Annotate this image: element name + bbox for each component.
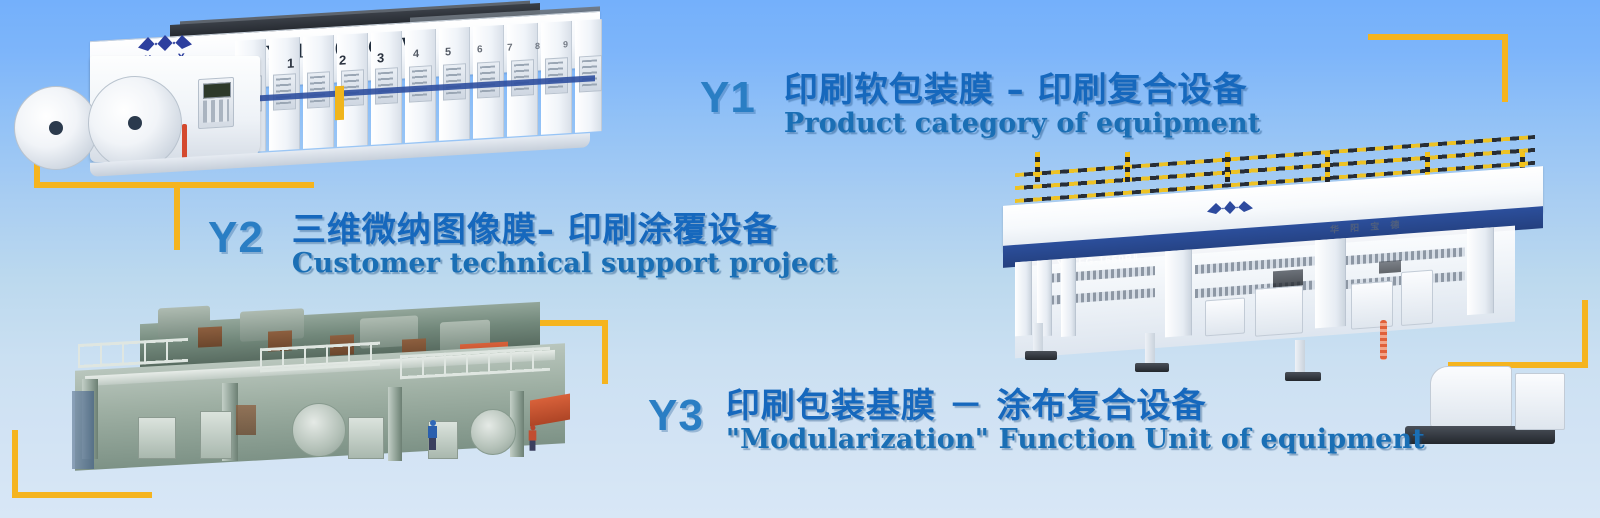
press-unit-number: 7: [507, 42, 513, 53]
entry-y1: Y1 印刷软包装膜 – 印刷复合设备 Product category of e…: [700, 72, 1260, 138]
hy-brand-logo-icon: [1205, 198, 1255, 222]
entry-title-cn-y1: 印刷软包装膜 – 印刷复合设备: [784, 72, 1261, 109]
coater-web-path: [72, 391, 94, 469]
bracket-mid-vertical: [602, 320, 608, 384]
bracket-y2-vertical: [174, 182, 180, 250]
entry-y3: Y3 印刷包装基膜 － 涂布复合设备 "Modularization" Func…: [648, 388, 1425, 454]
bracket-topright-vertical: [1502, 34, 1508, 102]
laminator-end-unit: [1515, 373, 1565, 430]
press-yellow-marker: [335, 86, 344, 121]
entry-code-y2: Y2: [208, 216, 264, 260]
entry-code-y1: Y1: [700, 76, 756, 120]
press-unit-number: 8: [535, 41, 540, 51]
press-unit-number: 3: [377, 50, 384, 65]
press-unwind-roll: [14, 86, 98, 170]
entry-subtitle-en-y2: Customer technical support project: [292, 249, 838, 279]
entry-subtitle-en-y3: "Modularization" Function Unit of equipm…: [726, 425, 1425, 455]
promo-banner: H Y YA10-1050CIIW 1 2 3 4 5 6 7 8 9: [0, 0, 1600, 518]
bracket-bottomleft-vertical: [12, 430, 18, 498]
entry-title-cn-y3: 印刷包装基膜 － 涂布复合设备: [726, 388, 1425, 425]
press-unit-number: 5: [445, 46, 451, 58]
press-unwind-roll: [88, 76, 182, 170]
machine-image-lamination-line: YATFG-1650BⅡ 华 阳 宝 德: [975, 148, 1565, 363]
entry-title-cn-y2: 三维微纳图像膜– 印刷涂覆设备: [292, 212, 838, 249]
press-unit-number: 2: [339, 52, 346, 67]
press-unit-number: 9: [563, 39, 568, 49]
entry-y2: Y2 三维微纳图像膜– 印刷涂覆设备 Customer technical su…: [208, 212, 838, 278]
laminator-cable-coil: [1380, 320, 1387, 360]
press-control-console: [198, 77, 234, 129]
entry-subtitle-en-y1: Product category of equipment: [784, 109, 1261, 139]
laminator-rewinder: [1430, 366, 1512, 428]
press-unit-number: 6: [477, 44, 483, 55]
bracket-bottomleft-horizontal: [12, 492, 152, 498]
machine-image-coating-line: [30, 305, 575, 485]
machine-image-printing-press: H Y YA10-1050CIIW 1 2 3 4 5 6 7 8 9: [30, 8, 600, 188]
bracket-topright-horizontal: [1368, 34, 1508, 40]
bracket-bottomright-vertical: [1582, 300, 1588, 368]
entry-code-y3: Y3: [648, 394, 704, 438]
press-unit-number: 4: [413, 48, 419, 60]
press-unit-number: 1: [287, 55, 294, 70]
